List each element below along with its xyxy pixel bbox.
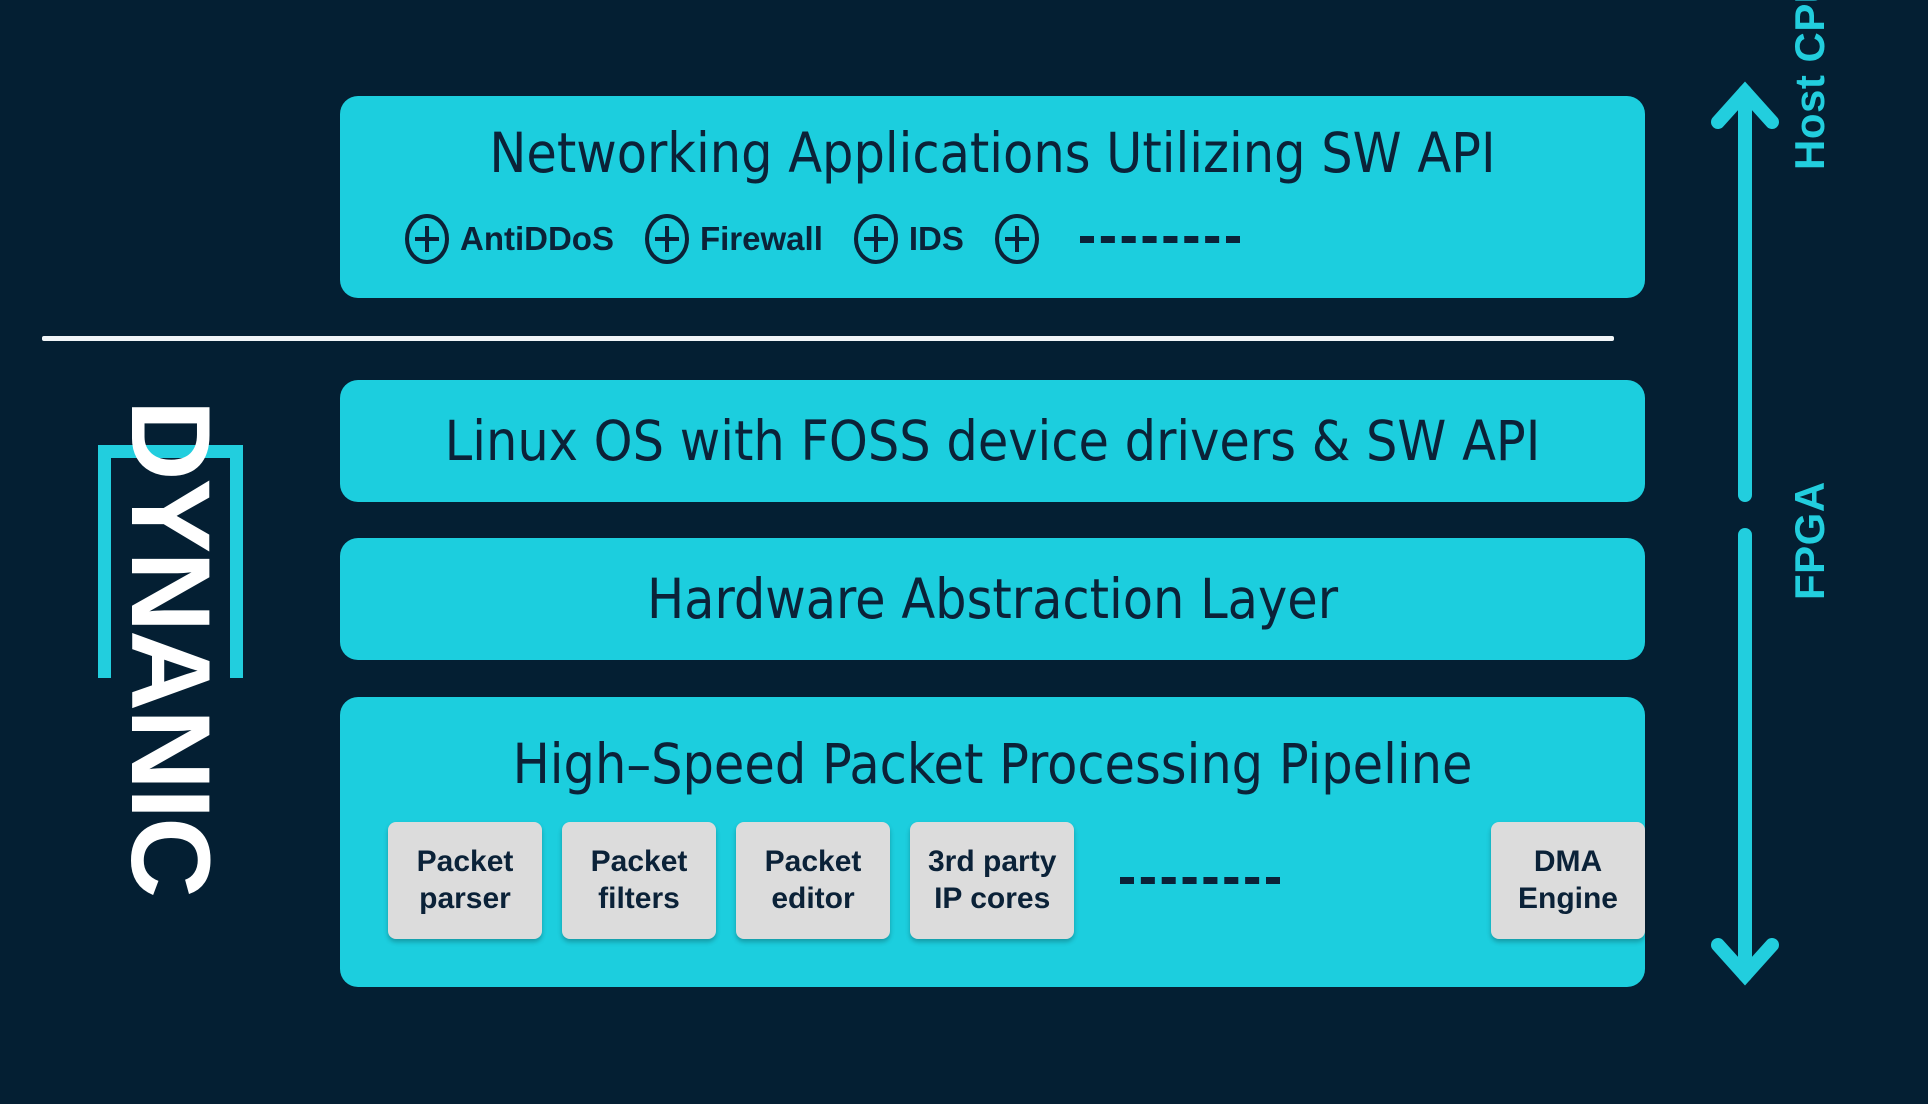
feature-label-firewall: Firewall: [700, 220, 823, 258]
layer-title-linux: Linux OS with FOSS device drivers & SW A…: [445, 414, 1541, 469]
layer-title-apps: Networking Applications Utilizing SW API: [340, 126, 1645, 181]
side-label-fpga: FPGA: [1786, 481, 1834, 600]
feature-label-antiddos: AntiDDoS: [460, 220, 614, 258]
layer-linux-os: Linux OS with FOSS device drivers & SW A…: [340, 380, 1645, 502]
hw-sw-divider: [42, 336, 1614, 341]
apps-feature-row: AntiDDoS Firewall: [340, 213, 1645, 265]
plus-circle-icon[interactable]: [644, 213, 690, 265]
layer-packet-pipeline: High–Speed Packet Processing Pipeline Pa…: [340, 697, 1645, 987]
pipeline-block-3rd-party-ip-cores[interactable]: 3rd party IP cores: [910, 822, 1074, 939]
pipeline-more-dashes-icon: [1120, 877, 1280, 884]
layer-networking-applications: Networking Applications Utilizing SW API…: [340, 96, 1645, 298]
apps-more-dashes-icon: [1080, 236, 1240, 243]
dynanic-logo: DYNANIC: [70, 430, 270, 900]
host-cpu-fpga-arrow: [1700, 70, 1790, 1020]
feature-antiddos[interactable]: AntiDDoS: [404, 213, 614, 265]
pipeline-block-packet-editor[interactable]: Packet editor: [736, 822, 890, 939]
pipeline-block-row: Packet parser Packet filters Packet edit…: [340, 822, 1645, 939]
layer-hardware-abstraction: Hardware Abstraction Layer: [340, 538, 1645, 660]
feature-ids[interactable]: IDS: [853, 213, 964, 265]
layer-title-hal: Hardware Abstraction Layer: [647, 572, 1338, 627]
plus-circle-icon[interactable]: [853, 213, 899, 265]
pipeline-block-packet-filters[interactable]: Packet filters: [562, 822, 716, 939]
feature-firewall[interactable]: Firewall: [644, 213, 823, 265]
logo-wordmark: DYNANIC: [70, 430, 270, 900]
plus-circle-icon[interactable]: [994, 213, 1040, 265]
feature-label-ids: IDS: [909, 220, 964, 258]
feature-add-more[interactable]: [994, 213, 1040, 265]
diagram-canvas: DYNANIC Networking Applications Utilizin…: [0, 0, 1928, 1104]
layer-title-pipeline: High–Speed Packet Processing Pipeline: [340, 737, 1645, 792]
pipeline-block-packet-parser[interactable]: Packet parser: [388, 822, 542, 939]
side-label-host-cpu: Host CPU: [1786, 0, 1834, 170]
plus-circle-icon[interactable]: [404, 213, 450, 265]
pipeline-block-dma-engine[interactable]: DMA Engine: [1491, 822, 1645, 939]
